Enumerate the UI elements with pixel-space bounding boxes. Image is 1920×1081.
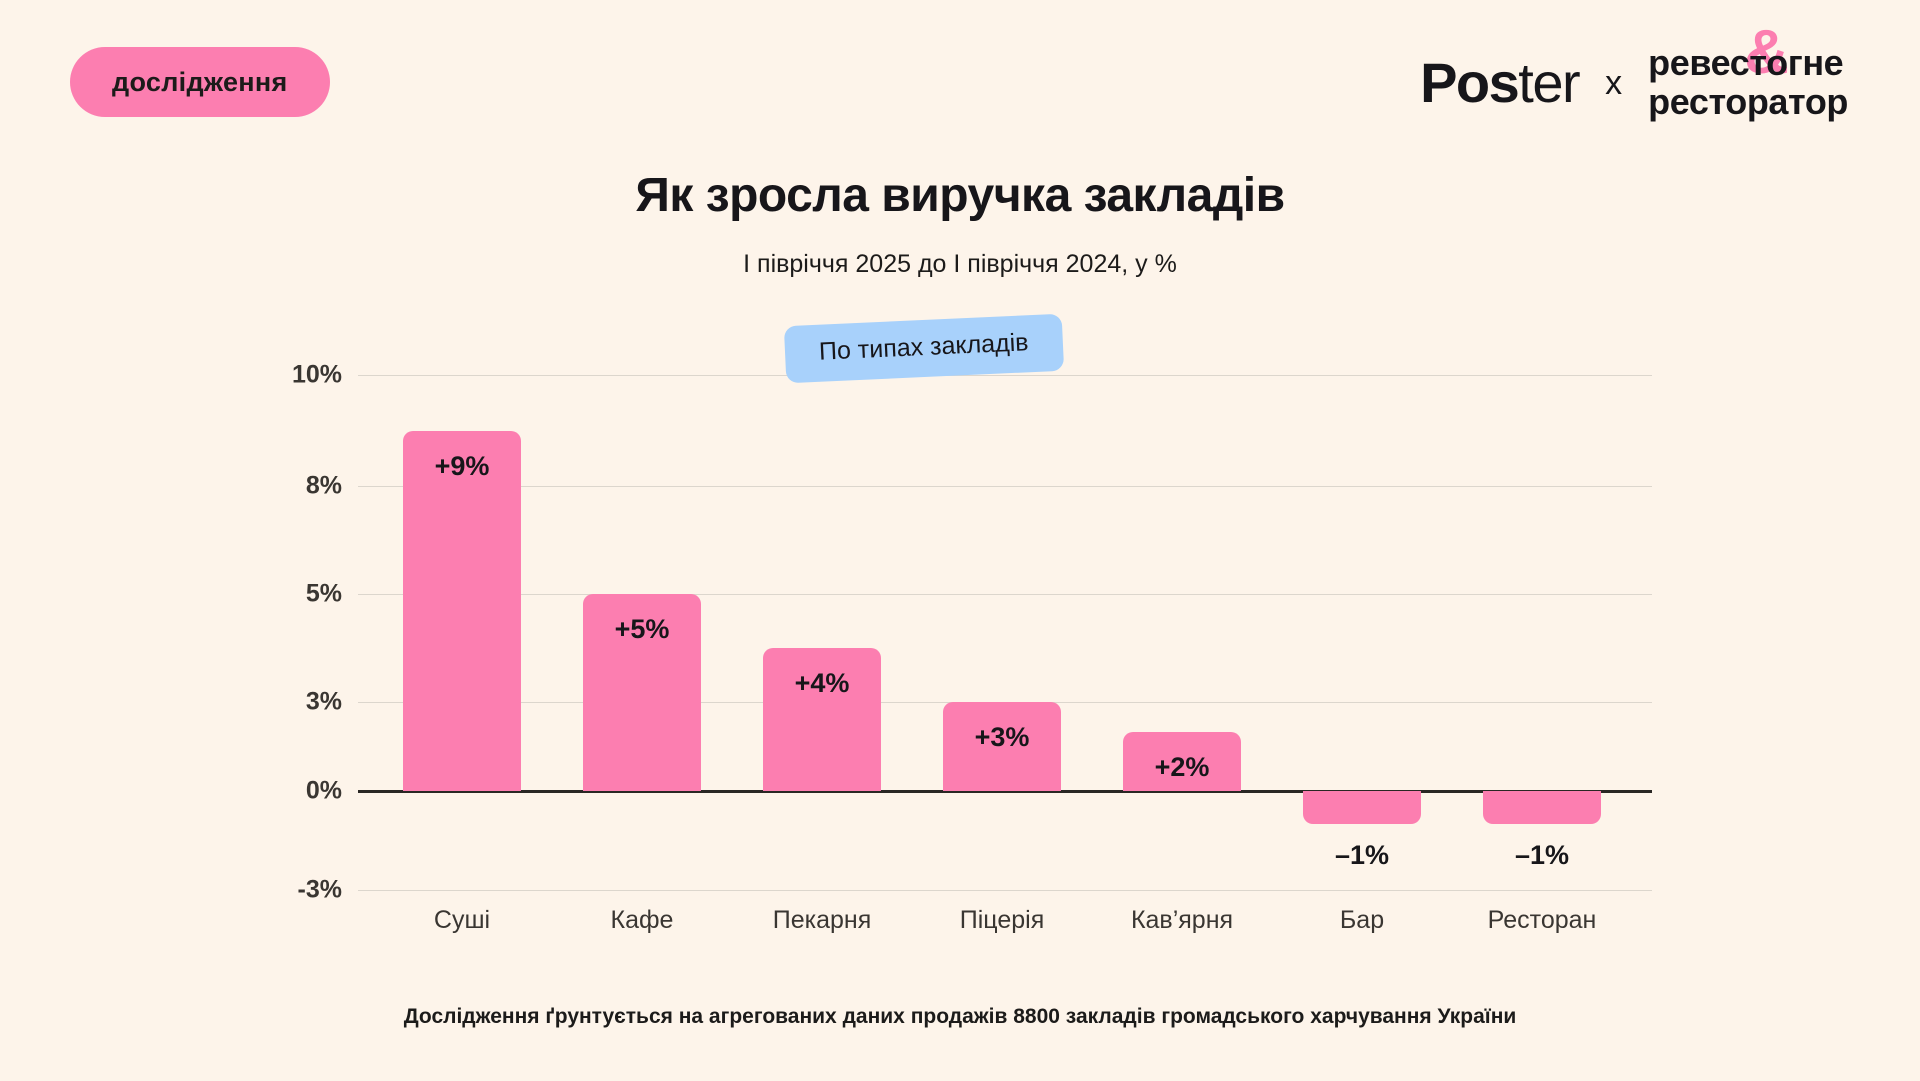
bar-group: +2%Кав’ярня	[1092, 0, 1272, 1081]
x-axis-category-label: Пекарня	[773, 906, 872, 935]
bar-chart: 10%8%5%3%0%-3%+9%Суші+5%Кафе+4%Пекарня+3…	[0, 0, 1920, 1081]
infographic-page: дослідження Poster x & ревестогне рестор…	[0, 0, 1920, 1081]
bar-value-label: +2%	[1155, 752, 1210, 783]
y-axis-tick-label: 5%	[250, 580, 342, 609]
bar-group: +5%Кафе	[552, 0, 732, 1081]
partner-logo-line1b: стогне	[1730, 42, 1844, 83]
bar-value-label: +5%	[615, 614, 670, 645]
bar-value-label: –1%	[1515, 840, 1569, 871]
bar[interactable]	[403, 431, 521, 792]
bar-group: +3%Піцерія	[912, 0, 1092, 1081]
y-axis-tick-label: 3%	[250, 688, 342, 717]
x-axis-category-label: Кафе	[611, 906, 674, 935]
y-axis-tick-label: 10%	[250, 361, 342, 390]
y-axis-tick-label: 0%	[250, 777, 342, 806]
x-axis-category-label: Піцерія	[960, 906, 1044, 935]
bar-group: +4%Пекарня	[732, 0, 912, 1081]
partner-logo-line1a: реве	[1648, 42, 1730, 83]
footnote: Дослідження ґрунтується на агрегованих д…	[0, 1005, 1920, 1029]
bar[interactable]	[1483, 791, 1601, 824]
bar-value-label: +9%	[435, 451, 490, 482]
partner-logo-line2: ресторатор	[1648, 83, 1848, 122]
bar-value-label: +3%	[975, 722, 1030, 753]
x-axis-category-label: Бар	[1340, 906, 1384, 935]
x-axis-category-label: Суші	[434, 906, 490, 935]
partner-logo-line1: ревестогне	[1648, 44, 1848, 83]
bar-group: –1%Бар	[1272, 0, 1452, 1081]
bar-value-label: +4%	[795, 668, 850, 699]
x-axis-category-label: Ресторан	[1488, 906, 1597, 935]
partner-logo: & ревестогне ресторатор	[1648, 44, 1848, 122]
bar-value-label: –1%	[1335, 840, 1389, 871]
bar[interactable]	[1303, 791, 1421, 824]
bar-group: +9%Суші	[372, 0, 552, 1081]
x-axis-category-label: Кав’ярня	[1131, 906, 1233, 935]
y-axis-tick-label: 8%	[250, 472, 342, 501]
bar-group: –1%Ресторан	[1452, 0, 1632, 1081]
y-axis-tick-label: -3%	[250, 876, 342, 905]
